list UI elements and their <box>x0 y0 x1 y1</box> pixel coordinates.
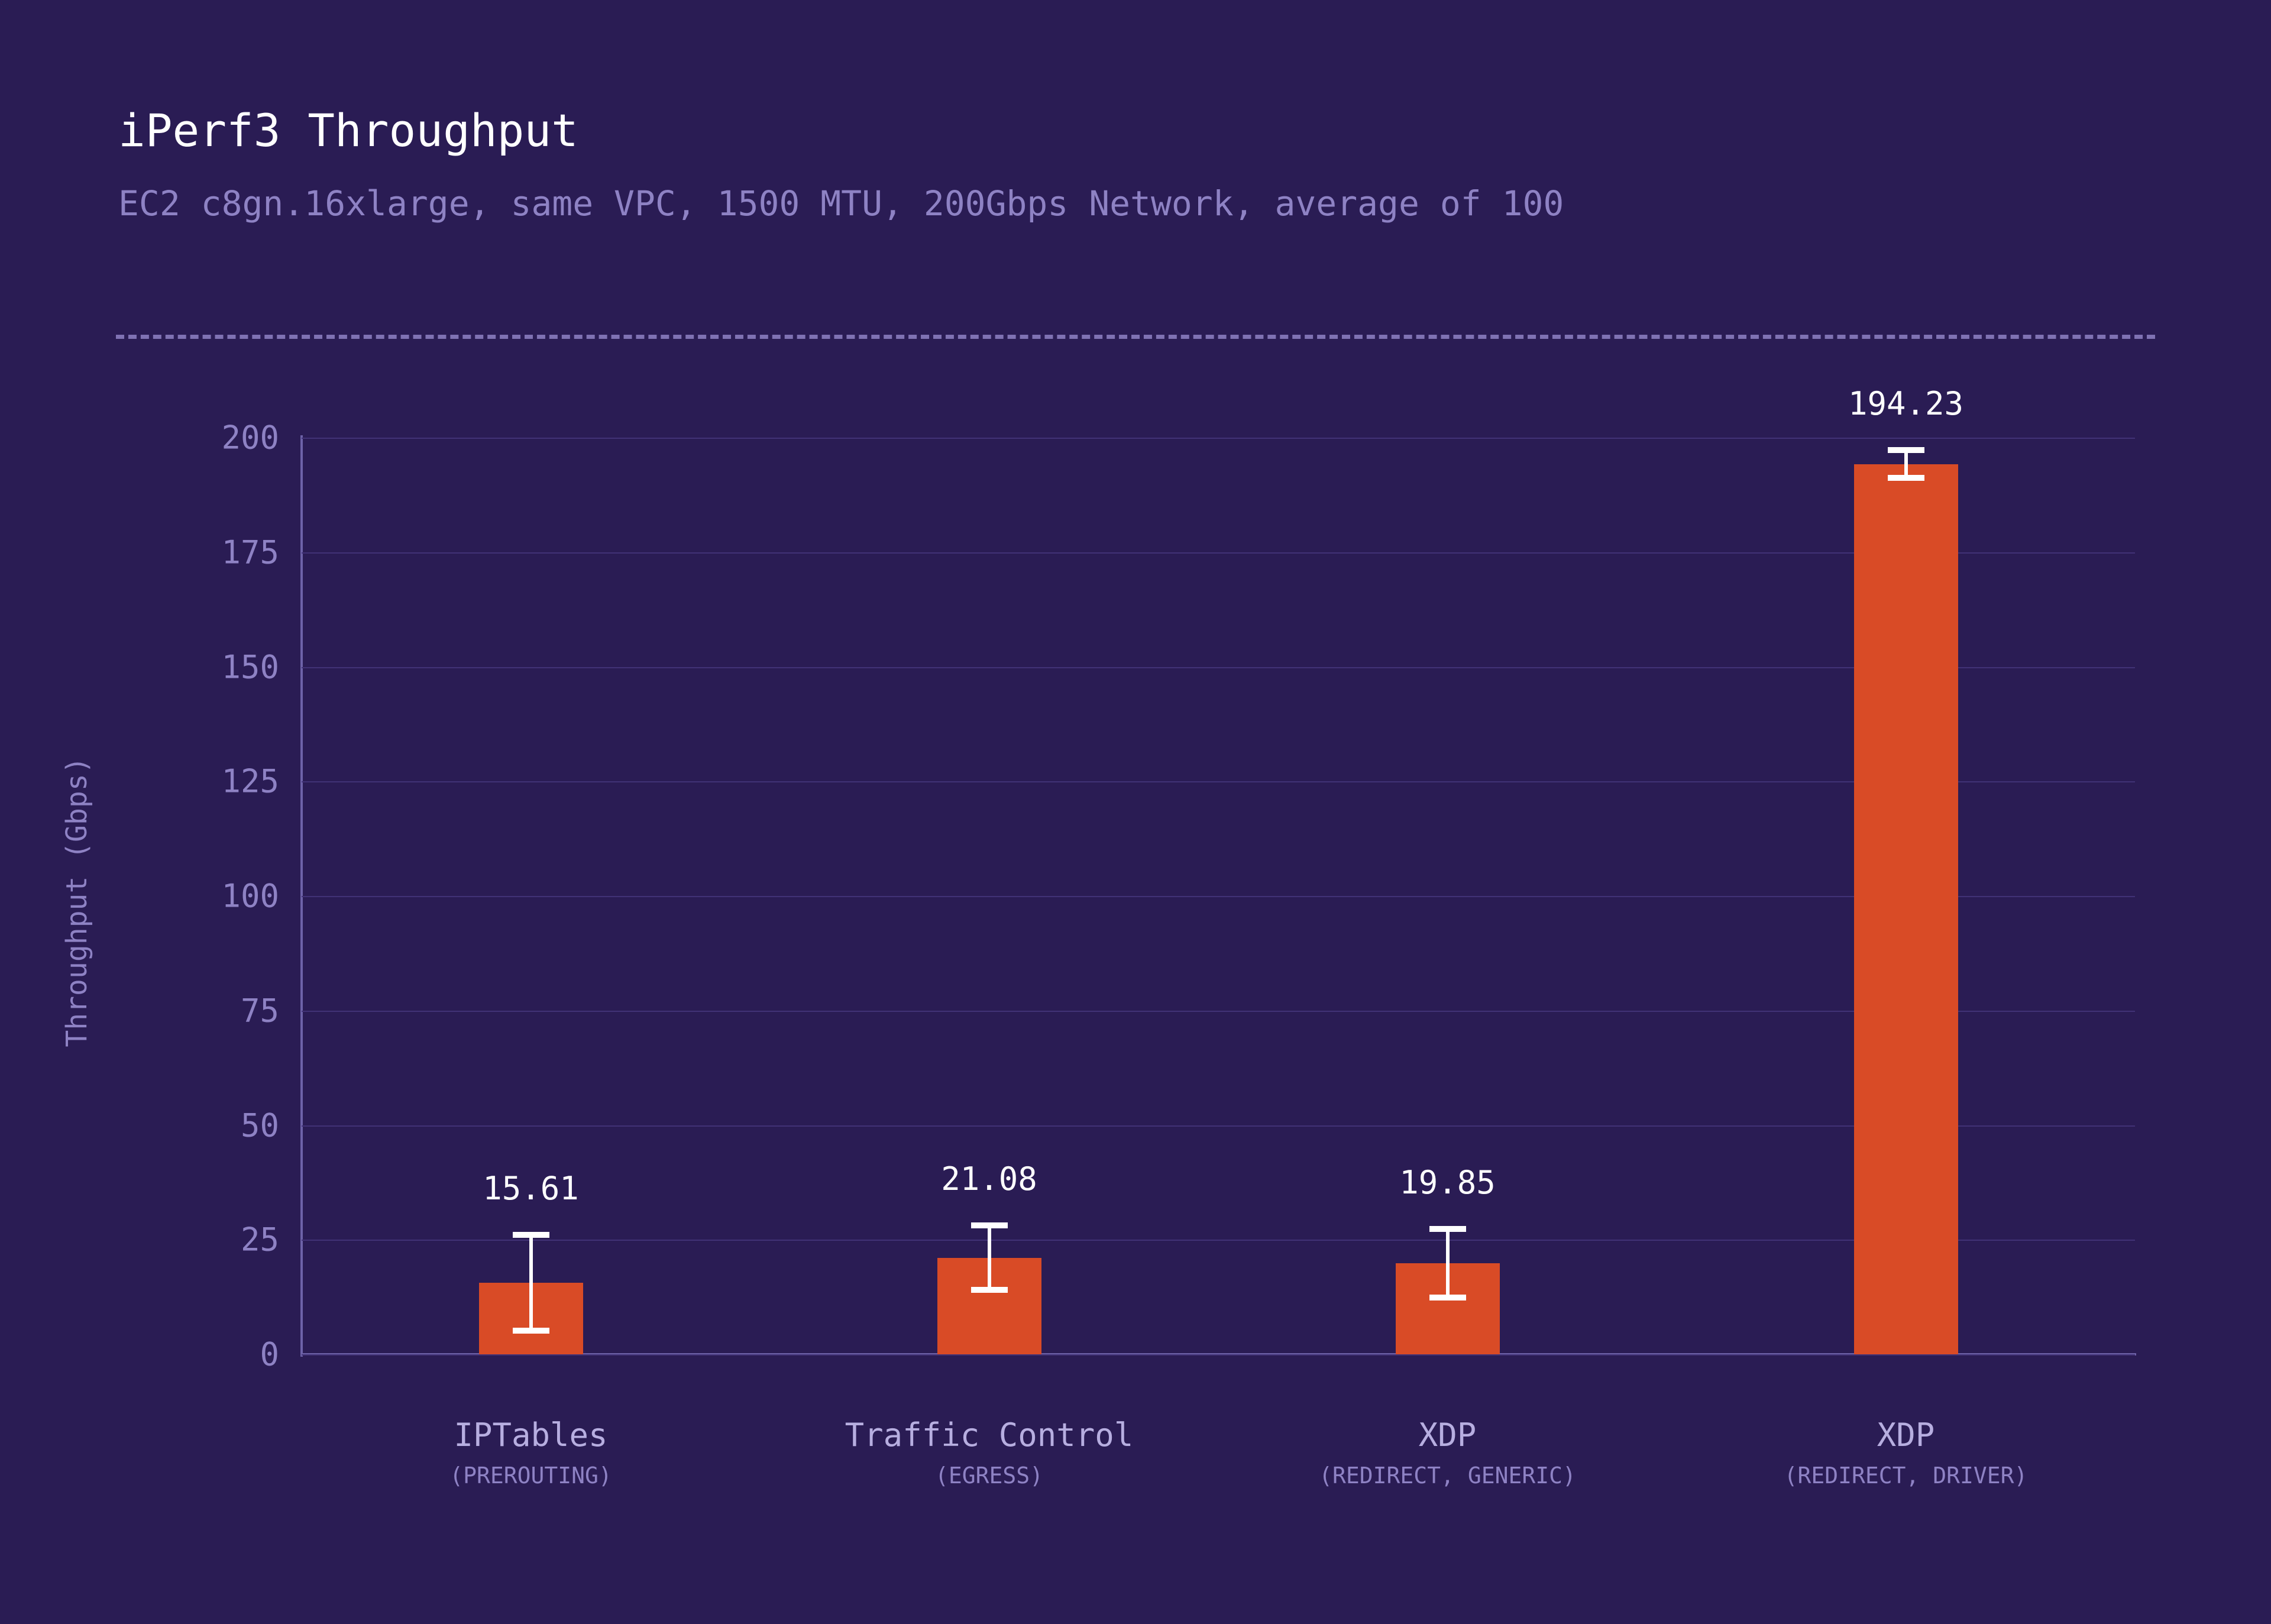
bar-value-label: 19.85 <box>1399 1164 1496 1201</box>
error-bar-cap-upper <box>1429 1226 1466 1232</box>
x-axis-category: IPTables(PREROUTING) <box>449 1419 612 1487</box>
x-axis-category-name: XDP <box>1319 1419 1576 1451</box>
gridline-200 <box>302 438 2135 439</box>
y-tick-label-125: 125 <box>221 763 279 800</box>
bar[interactable] <box>1854 464 1958 1354</box>
error-bar-cap-lower <box>971 1287 1008 1293</box>
error-bar-stem <box>529 1235 533 1331</box>
y-axis-label: Throughput (Gbps) <box>60 756 93 1047</box>
chart-title: iPerf3 Throughput <box>118 104 578 157</box>
bar-value-label: 194.23 <box>1848 385 1963 422</box>
error-bar-stem <box>1446 1229 1450 1298</box>
y-tick-label-100: 100 <box>221 878 279 915</box>
y-tick-label-200: 200 <box>221 419 279 457</box>
x-axis-category: Traffic Control(EGRESS) <box>845 1419 1134 1487</box>
bar-value-label: 15.61 <box>483 1170 579 1207</box>
error-bar-cap-upper <box>513 1232 549 1238</box>
y-tick-label-25: 25 <box>241 1221 279 1259</box>
x-axis-category: XDP(REDIRECT, GENERIC) <box>1319 1419 1576 1487</box>
y-tick-label-50: 50 <box>241 1107 279 1144</box>
x-axis-category-sublabel: (REDIRECT, DRIVER) <box>1784 1464 2028 1487</box>
gridline-0 <box>302 1354 2135 1356</box>
error-bar-cap-lower <box>513 1328 549 1334</box>
error-bar-cap-lower <box>1429 1295 1466 1301</box>
y-tick-label-75: 75 <box>241 992 279 1029</box>
x-axis-category: XDP(REDIRECT, DRIVER) <box>1784 1419 2028 1487</box>
y-tick-label-0: 0 <box>260 1336 279 1373</box>
y-tick-label-150: 150 <box>221 648 279 685</box>
x-axis-category-name: IPTables <box>449 1419 612 1451</box>
x-axis-category-name: XDP <box>1784 1419 2028 1451</box>
error-bar-cap-lower <box>1888 475 1924 481</box>
x-axis-category-sublabel: (REDIRECT, GENERIC) <box>1319 1464 1576 1487</box>
bar-value-label: 21.08 <box>941 1160 1037 1198</box>
error-bar-stem <box>1904 450 1908 478</box>
header-divider <box>116 335 2155 339</box>
x-axis-category-sublabel: (PREROUTING) <box>449 1464 612 1487</box>
chart-subtitle: EC2 c8gn.16xlarge, same VPC, 1500 MTU, 2… <box>118 183 1564 224</box>
plot-area <box>302 438 2135 1354</box>
error-bar-cap-upper <box>1888 447 1924 453</box>
x-axis-category-name: Traffic Control <box>845 1419 1134 1451</box>
error-bar-stem <box>988 1225 991 1290</box>
y-tick-label-175: 175 <box>221 533 279 571</box>
error-bar-cap-upper <box>971 1222 1008 1228</box>
x-axis-category-sublabel: (EGRESS) <box>845 1464 1134 1487</box>
